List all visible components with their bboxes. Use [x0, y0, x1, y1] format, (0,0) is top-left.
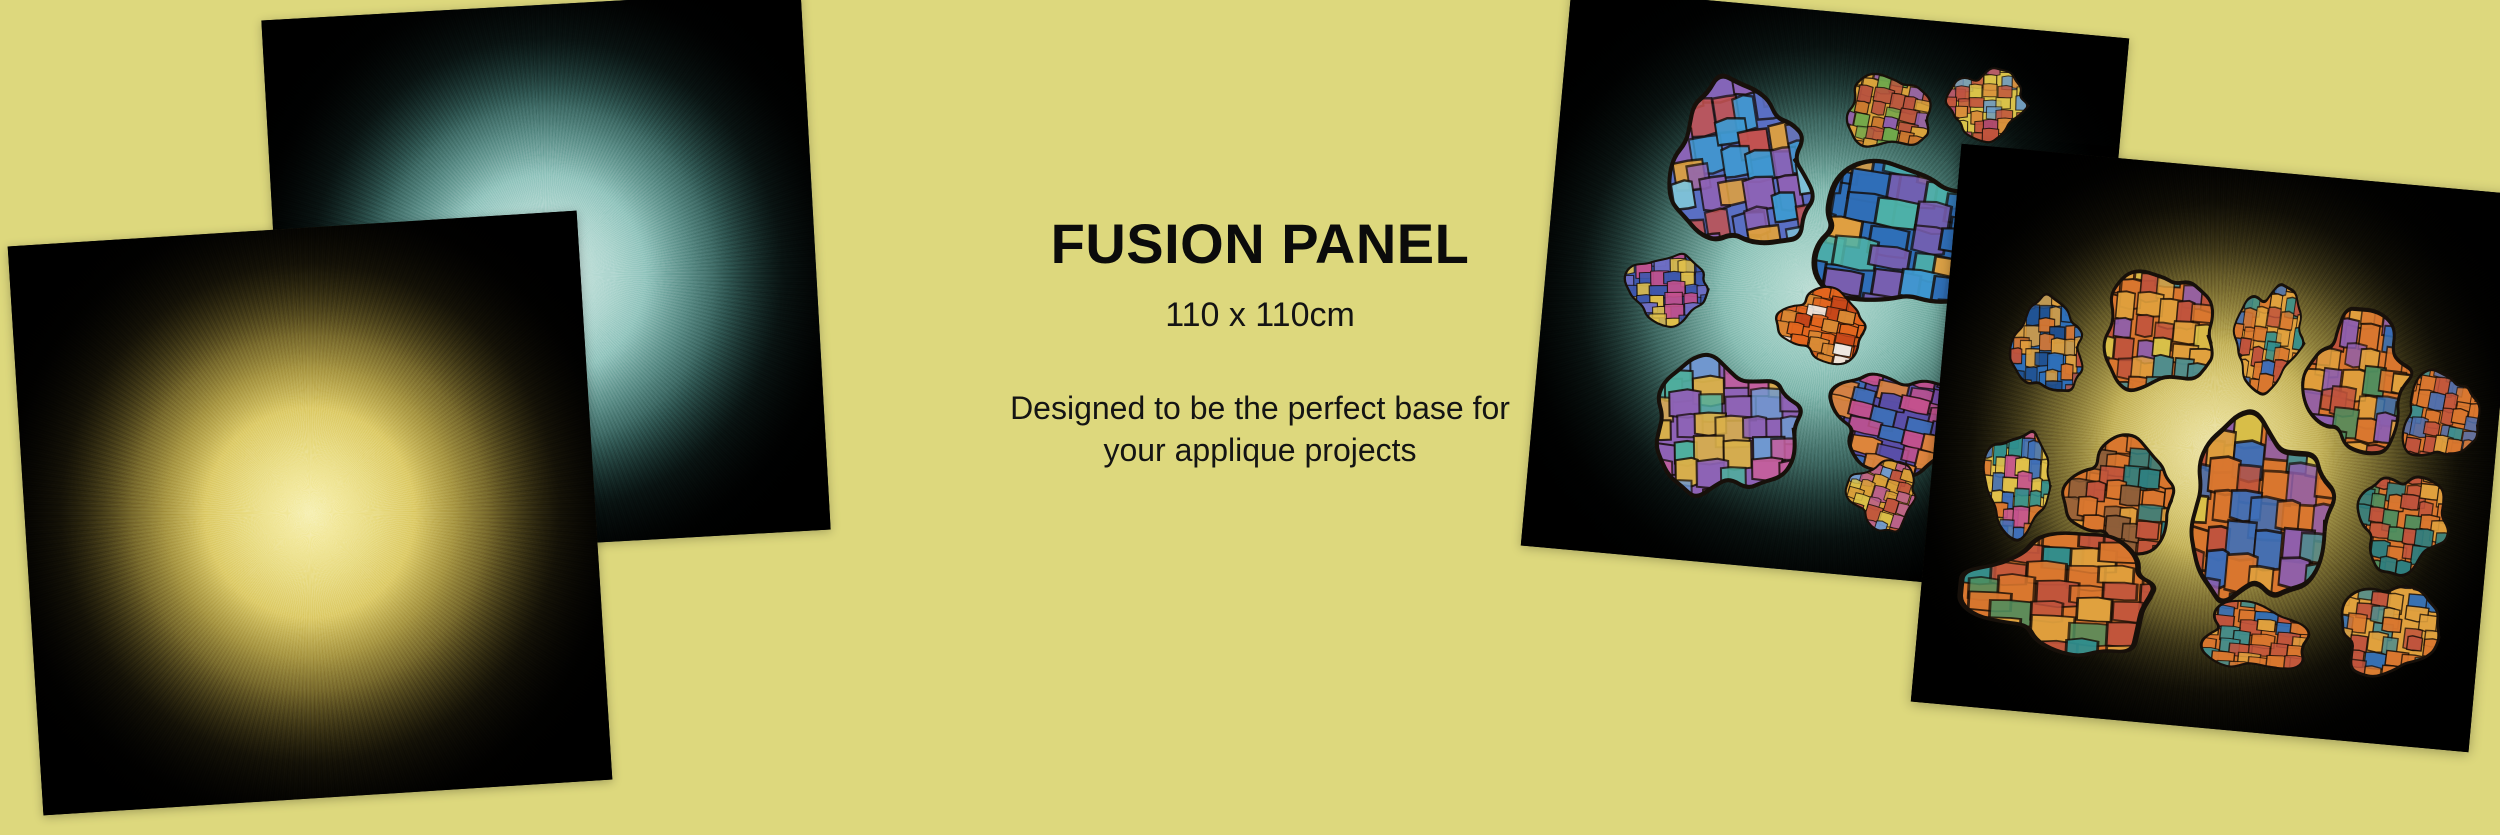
motif-kangaroo	[2172, 401, 2342, 627]
page-title: FUSION PANEL	[880, 215, 1640, 274]
tagline-line-1: Designed to be the perfect base for	[880, 387, 1640, 429]
motif-spiky-fish	[1943, 64, 2029, 144]
panel-size-label: 110 x 110cm	[880, 296, 1640, 335]
tagline-line-2: your applique projects	[880, 429, 1640, 471]
australian-animals-panel	[1911, 144, 2500, 752]
motif-crocodile	[1957, 519, 2183, 665]
australian-animals-motif-group	[1911, 144, 2500, 752]
banner-text-block: FUSION PANEL 110 x 110cm Designed to be …	[880, 215, 1640, 471]
tagline: Designed to be the perfect base for your…	[880, 387, 1640, 471]
motif-sea-turtle	[1643, 349, 1802, 508]
motif-platypus	[2194, 592, 2314, 682]
motif-koala	[2090, 252, 2220, 408]
fusion-panel-banner: FUSION PANEL 110 x 110cm Designed to be …	[0, 0, 2500, 835]
motif-echidna	[2327, 570, 2446, 689]
motif-possum	[2390, 361, 2491, 475]
gold-vignette	[8, 211, 613, 816]
motif-quokka	[2348, 460, 2456, 583]
gold-starburst-panel	[8, 211, 613, 816]
motif-kookaburra	[2010, 292, 2091, 400]
